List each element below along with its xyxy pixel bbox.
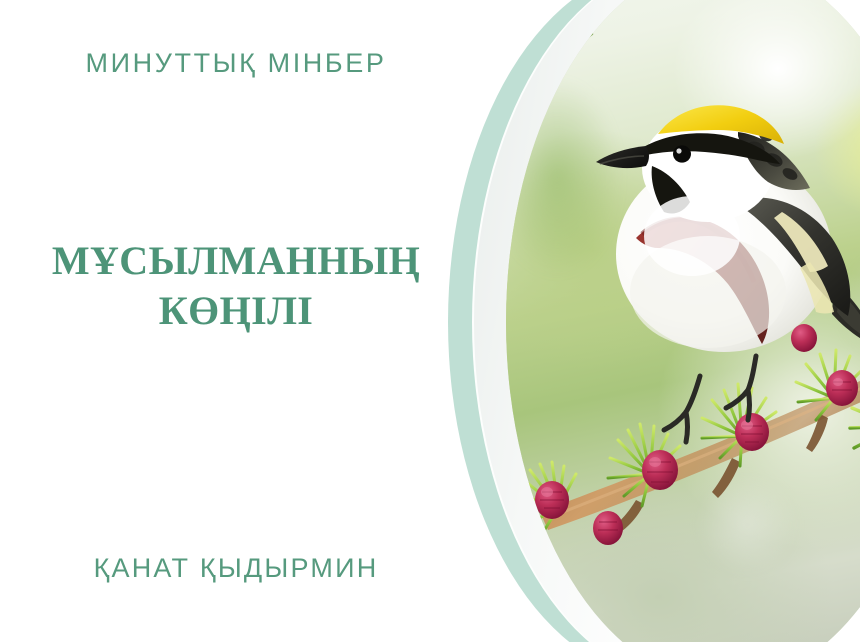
kicker-text: МИНУТТЫҚ МІНБЕР — [0, 48, 472, 79]
bird-photograph — [506, 0, 860, 642]
text-panel: МИНУТТЫҚ МІНБЕР МҰСЫЛМАННЫҢ КӨҢІЛІ ҚАНАТ… — [0, 0, 472, 642]
byline-text: ҚАНАТ ҚЫДЫРМИН — [0, 553, 472, 584]
headline-line-1: МҰСЫЛМАННЫҢ — [52, 238, 420, 283]
slide-canvas: МИНУТТЫҚ МІНБЕР МҰСЫЛМАННЫҢ КӨҢІЛІ ҚАНАТ… — [0, 0, 860, 642]
photo-inner — [506, 0, 860, 642]
bird-bill — [596, 146, 649, 168]
larch-branch-group — [506, 332, 860, 632]
bird-eye — [673, 145, 691, 162]
headline-line-2: КӨҢІЛІ — [0, 286, 472, 336]
pine-sprig-icon — [522, 6, 612, 76]
headline: МҰСЫЛМАННЫҢ КӨҢІЛІ — [0, 236, 472, 335]
photo-decoration-zone — [430, 0, 860, 642]
